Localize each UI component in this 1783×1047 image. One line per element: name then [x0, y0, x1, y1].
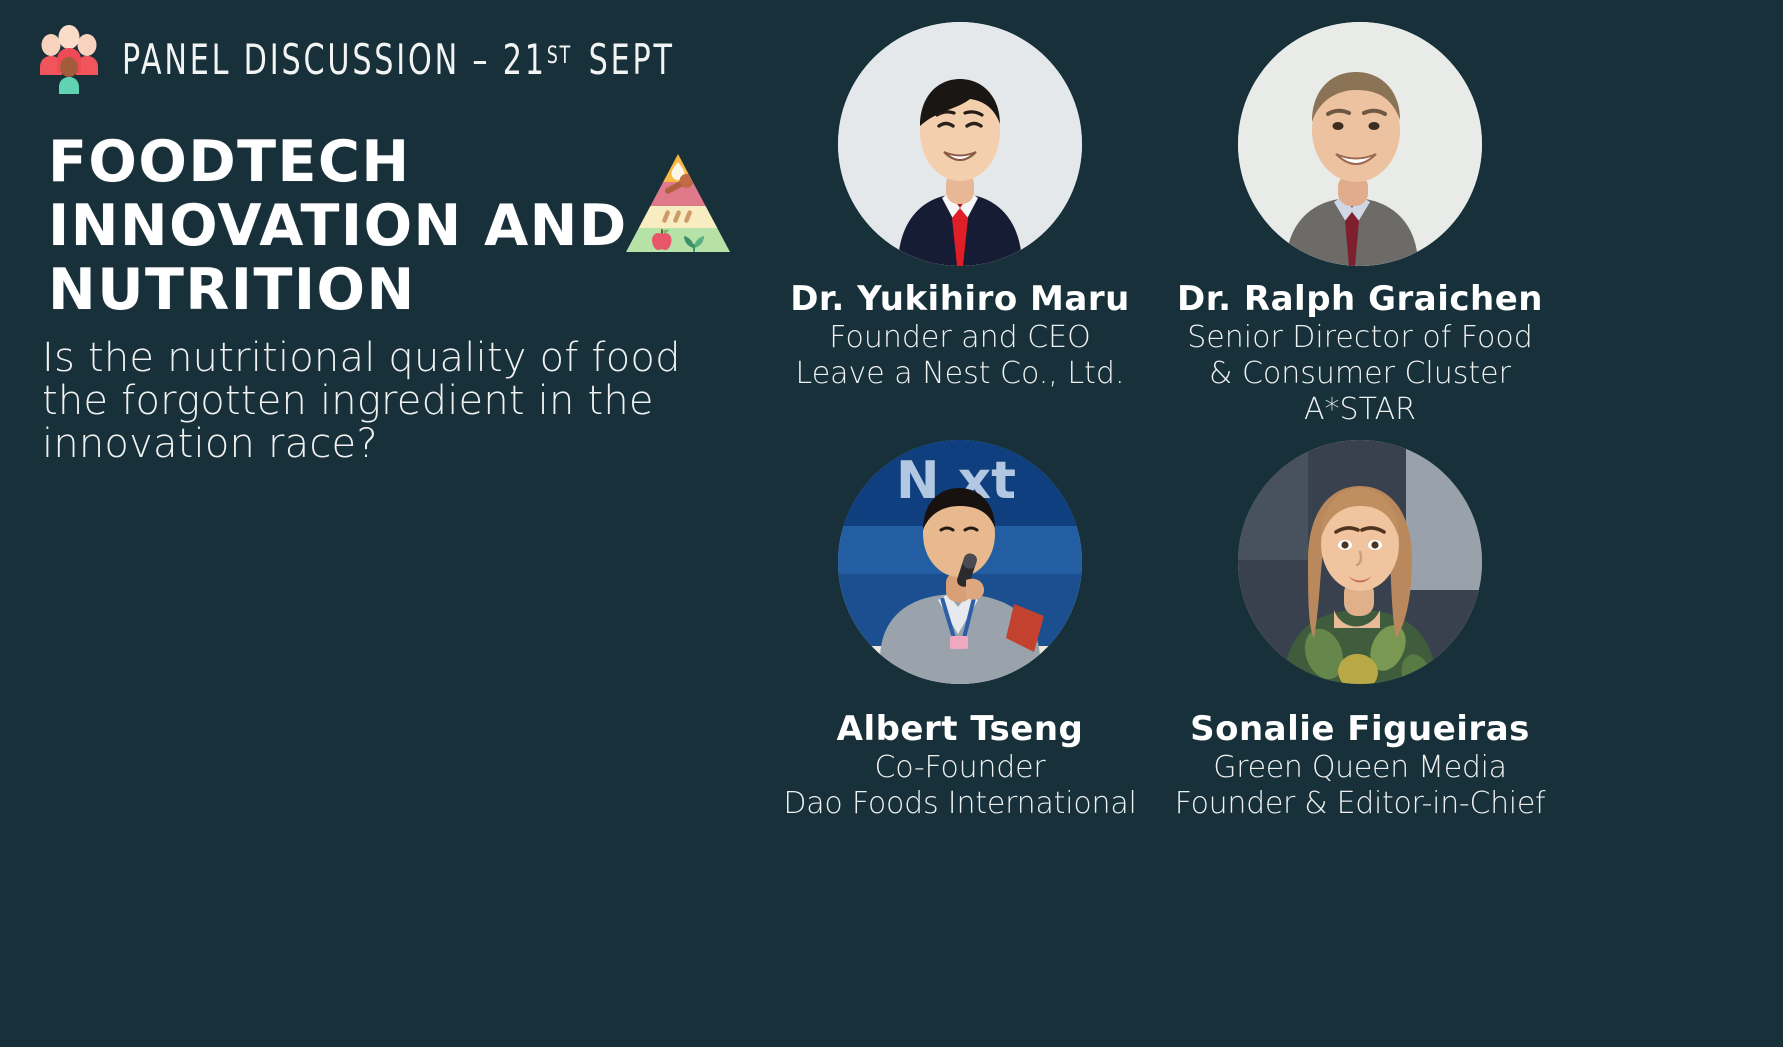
eyebrow-tail: SEPT: [589, 35, 675, 84]
speaker-role: Founder and CEO Leave a Nest Co., Ltd.: [760, 320, 1160, 392]
speaker-role: Co-Founder Dao Foods International: [760, 750, 1160, 822]
speaker-card-2: N xt: [760, 440, 1160, 822]
food-pyramid-icon: [622, 148, 734, 260]
speaker-name: Albert Tseng: [760, 710, 1160, 748]
slide-root: PANEL DISCUSSION – 21STSEPT FOODTECH INN…: [0, 0, 1783, 1047]
speaker-name: Sonalie Figueiras: [1160, 710, 1560, 748]
avatar: N xt: [838, 440, 1082, 684]
avatar: [838, 22, 1082, 266]
avatar: [1238, 22, 1482, 266]
eyebrow-ordinal-suffix: ST: [547, 40, 572, 69]
speaker-role: Senior Director of Food & Consumer Clust…: [1160, 320, 1560, 428]
speaker-card-1: Dr. Ralph Graichen Senior Director of Fo…: [1160, 22, 1560, 428]
speaker-card-3: Sonalie Figueiras Green Queen Media Foun…: [1160, 440, 1560, 822]
subtitle-text: Is the nutritional quality of food the f…: [42, 337, 722, 466]
eyebrow-label: PANEL DISCUSSION – 21STSEPT: [122, 35, 675, 84]
eyebrow-main: PANEL DISCUSSION – 21: [122, 35, 547, 84]
speakers-grid: Dr. Yukihiro Maru Founder and CEO Leave …: [760, 0, 1783, 1047]
eyebrow-row: PANEL DISCUSSION – 21STSEPT: [38, 24, 813, 94]
left-column: PANEL DISCUSSION – 21STSEPT FOODTECH INN…: [0, 0, 850, 1047]
speaker-role: Green Queen Media Founder & Editor-in-Ch…: [1160, 750, 1560, 822]
people-group-icon: [38, 24, 100, 94]
avatar: [1238, 440, 1482, 684]
speaker-name: Dr. Yukihiro Maru: [760, 280, 1160, 318]
speaker-card-0: Dr. Yukihiro Maru Founder and CEO Leave …: [760, 22, 1160, 392]
speaker-name: Dr. Ralph Graichen: [1160, 280, 1560, 318]
